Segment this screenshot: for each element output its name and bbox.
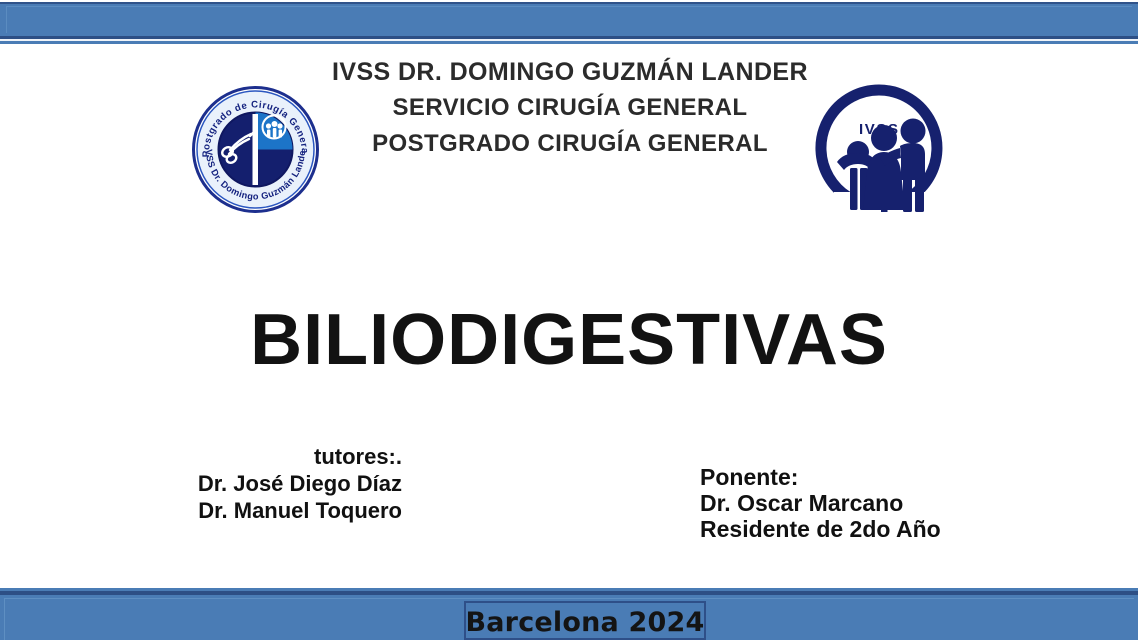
top-bar-inner-edge xyxy=(6,6,1132,33)
footer-location-year: Barcelona 2024 xyxy=(465,605,704,636)
institution-header-line-1: IVSS DR. DOMINGO GUZMÁN LANDER xyxy=(330,54,810,90)
top-bar-rule-blue xyxy=(0,41,1138,44)
presenter-label: Ponente: xyxy=(700,464,1040,490)
tutors-block: tutores:. Dr. José Diego Díaz Dr. Manuel… xyxy=(150,443,402,524)
page-title: BILIODIGESTIVAS xyxy=(0,300,1138,380)
presenter-block: Ponente: Dr. Oscar Marcano Residente de … xyxy=(700,464,1040,542)
institution-header: IVSS DR. DOMINGO GUZMÁN LANDER SERVICIO … xyxy=(330,54,810,162)
presenter-role: Residente de 2do Año xyxy=(700,516,1040,542)
tutor-name-2: Dr. Manuel Toquero xyxy=(150,497,402,524)
tutor-name-1: Dr. José Diego Díaz xyxy=(150,470,402,497)
footer-location-box: Barcelona 2024 xyxy=(464,601,706,640)
presenter-name: Dr. Oscar Marcano xyxy=(700,490,1040,516)
institution-header-line-3: POSTGRADO CIRUGÍA GENERAL xyxy=(330,126,810,162)
postgrado-seal-logo: Postgrado de Cirugía General IVSS Dr. Do… xyxy=(190,84,321,215)
top-decorative-bar xyxy=(0,0,1138,45)
ivss-logo: IVSS xyxy=(812,84,946,215)
institution-header-line-2: SERVICIO CIRUGÍA GENERAL xyxy=(330,90,810,126)
tutors-label: tutores:. xyxy=(150,443,402,470)
